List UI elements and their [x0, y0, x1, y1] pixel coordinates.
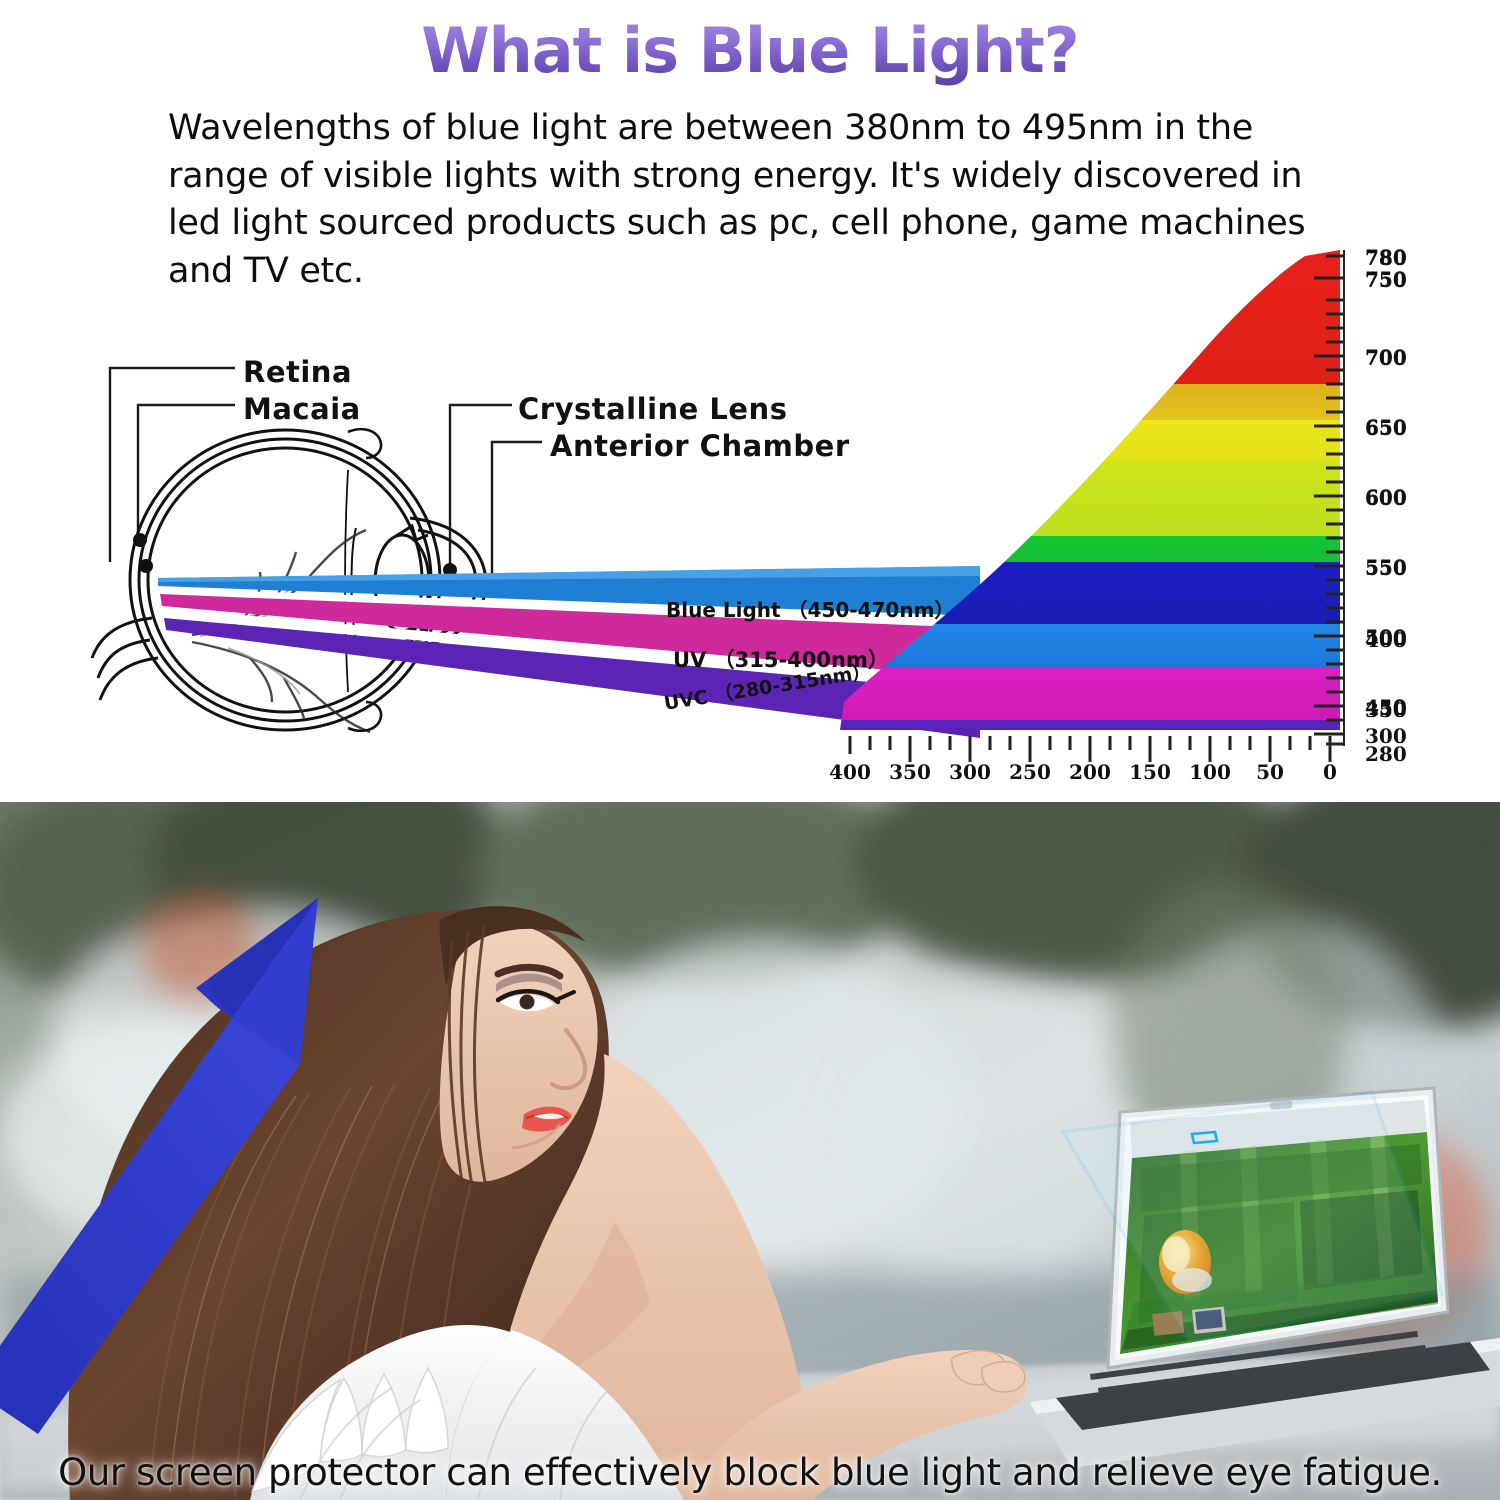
top-info-section: What is Blue Light? Wavelengths of blue …	[0, 0, 1500, 802]
y-label-350: 350	[1365, 698, 1425, 722]
photo-caption: Our screen protector can effectively blo…	[0, 1451, 1500, 1494]
label-anterior-chamber: Anterior Chamber	[550, 429, 850, 463]
product-infographic: What is Blue Light? Wavelengths of blue …	[0, 0, 1500, 1500]
x-label-150: 150	[1120, 760, 1180, 784]
x-label-300: 300	[940, 760, 1000, 784]
lifestyle-photo-section: 380nm~450nm 10:58 PM Setup > Weather Lon…	[0, 802, 1500, 1500]
y-label-750: 750	[1365, 267, 1425, 291]
label-crystalline-lens: Crystalline Lens	[518, 392, 787, 426]
x-label-350: 350	[880, 760, 940, 784]
page-title: What is Blue Light?	[0, 14, 1500, 87]
y-label-780: 780	[1365, 245, 1425, 269]
x-label-0: 0	[1300, 760, 1360, 784]
y-label-600: 600	[1365, 485, 1425, 509]
x-label-50: 50	[1240, 760, 1300, 784]
y-label-550: 550	[1365, 555, 1425, 579]
y-label-700: 700	[1365, 345, 1425, 369]
x-label-250: 250	[1000, 760, 1060, 784]
photo-illustration	[0, 802, 1500, 1500]
label-macaia: Macaia	[243, 392, 361, 426]
y-label-400: 400	[1365, 628, 1425, 652]
x-label-100: 100	[1180, 760, 1240, 784]
x-label-200: 200	[1060, 760, 1120, 784]
y-label-650: 650	[1365, 415, 1425, 439]
label-retina: Retina	[243, 355, 352, 389]
x-label-400: 400	[820, 760, 880, 784]
spectrum-x-axis	[850, 736, 1330, 762]
y-label-280: 280	[1365, 742, 1425, 766]
spectrum-chart: 780 750 700 650 600 550 500 450 780 750 …	[820, 250, 1500, 802]
spectrum-bands	[820, 250, 1350, 746]
